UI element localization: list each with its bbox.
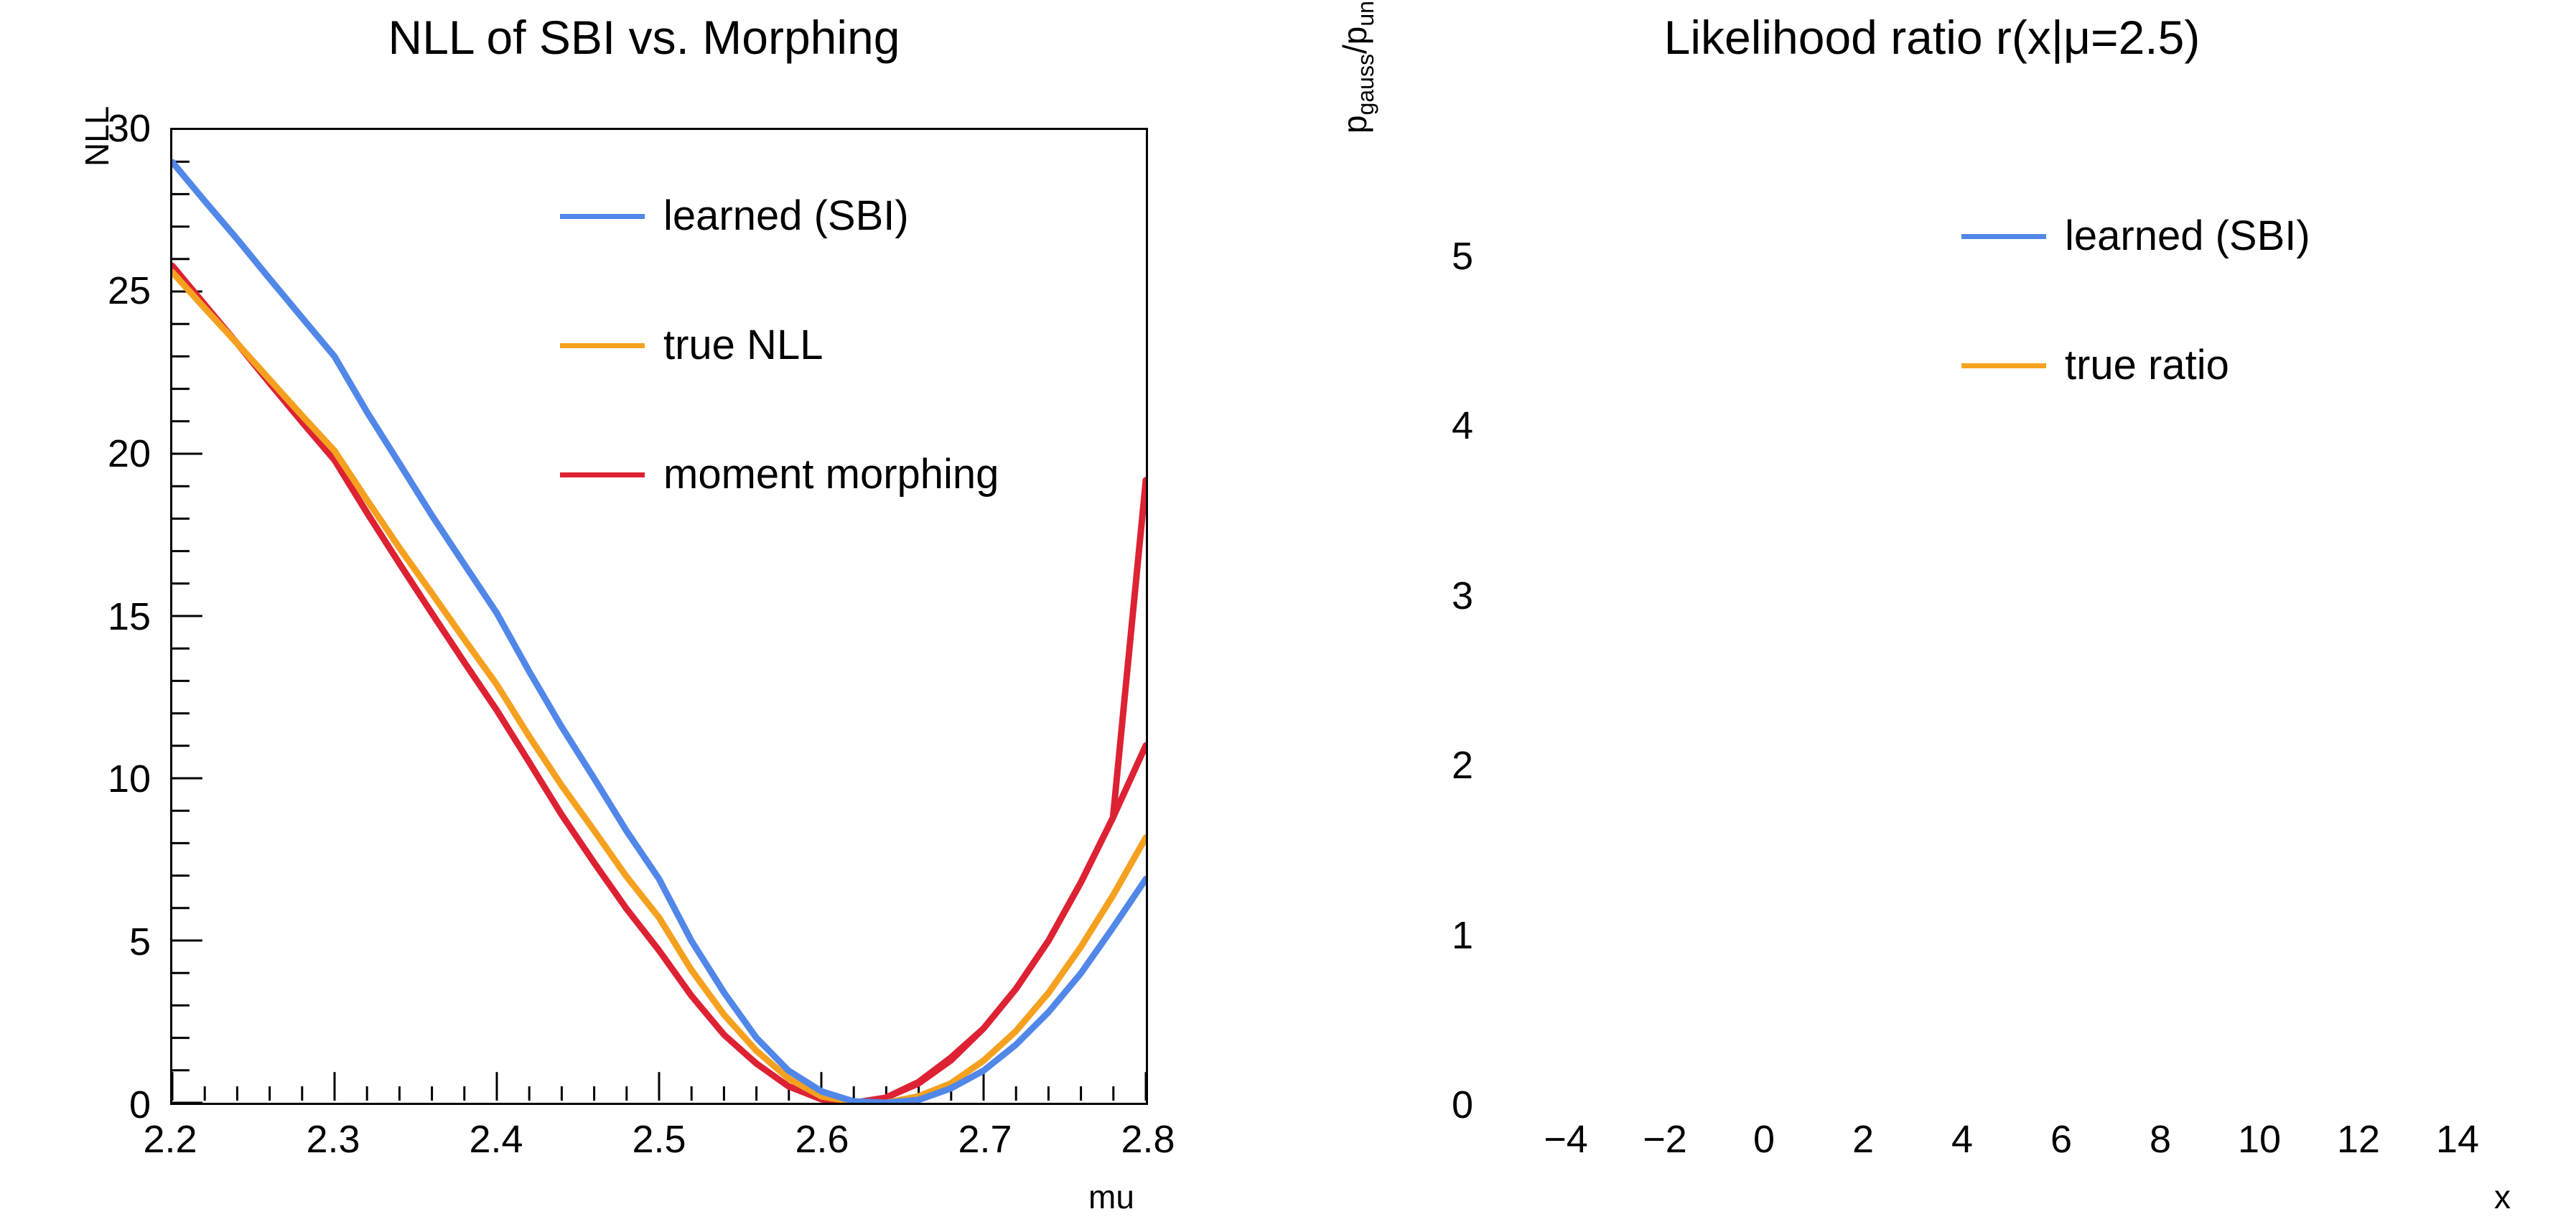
- nll-ytick-5: 5: [43, 920, 151, 964]
- nll-legend-label-moment-morphing: moment morphing: [663, 454, 999, 495]
- legend-line-icon-moment-morphing: [560, 472, 645, 477]
- ratio-y-title-p1: p: [1336, 115, 1373, 134]
- ratio-xtick-0: 0: [1753, 1117, 1775, 1162]
- legend-line-icon-learned-sbi-ratio: [1961, 234, 2046, 239]
- nll-ytick-30: 30: [43, 106, 151, 151]
- ratio-legend-item-learned-sbi[interactable]: learned (SBI): [1961, 194, 2310, 279]
- nll-xtick-2.4: 2.4: [469, 1117, 523, 1162]
- ratio-ytick-3: 3: [1331, 574, 1473, 618]
- ratio-ytick-2: 2: [1331, 743, 1473, 788]
- nll-xtick-2.5: 2.5: [632, 1117, 686, 1162]
- ratio-xtick-2: 2: [1852, 1117, 1874, 1162]
- ratio-legend: learned (SBI) true ratio: [1961, 194, 2310, 408]
- nll-legend-label-true-nll: true NLL: [663, 325, 823, 366]
- ratio-ytick-4: 4: [1331, 403, 1473, 448]
- ratio-legend-item-true-ratio[interactable]: true ratio: [1961, 323, 2310, 408]
- nll-xtick-2.3: 2.3: [306, 1117, 360, 1162]
- ratio-y-title-slash: /p: [1336, 27, 1373, 54]
- ratio-xtick-8: 8: [2150, 1117, 2171, 1162]
- ratio-xtick-14: 14: [2436, 1117, 2479, 1162]
- ratio-legend-label-true-ratio: true ratio: [2065, 345, 2229, 386]
- ratio-legend-label-learned-sbi: learned (SBI): [2065, 215, 2310, 257]
- nll-xtick-2.8: 2.8: [1121, 1117, 1175, 1162]
- nll-ytick-10: 10: [43, 757, 151, 801]
- ratio-panel-title: Likelihood ratio r(x|μ=2.5): [1288, 10, 2576, 65]
- nll-legend-item-learned-sbi[interactable]: learned (SBI): [560, 174, 999, 258]
- ratio-ytick-1: 1: [1331, 913, 1473, 958]
- nll-panel-title: NLL of SBI vs. Morphing: [0, 10, 1288, 65]
- ratio-xtick-m2: −2: [1643, 1117, 1687, 1162]
- ratio-panel: Likelihood ratio r(x|μ=2.5) pgauss/punif…: [1288, 0, 2576, 1232]
- nll-legend-label-learned-sbi: learned (SBI): [663, 195, 909, 237]
- ratio-ytick-0: 0: [1331, 1083, 1473, 1127]
- nll-legend: learned (SBI) true NLL moment morphing: [560, 174, 999, 517]
- ratio-xtick-10: 10: [2238, 1117, 2281, 1162]
- ratio-y-title-sub-gauss: gauss: [1353, 54, 1378, 115]
- ratio-y-axis-title: pgauss/puniform: [1335, 0, 1379, 134]
- ratio-ytick-5: 5: [1331, 234, 1473, 279]
- ratio-xtick-m4: −4: [1544, 1117, 1588, 1162]
- nll-legend-item-true-nll[interactable]: true NLL: [560, 303, 999, 388]
- figure-canvas: NLL of SBI vs. Morphing NLL 0 5 10 15 20…: [0, 0, 2576, 1232]
- nll-xtick-2.6: 2.6: [795, 1117, 849, 1162]
- nll-ytick-0: 0: [43, 1083, 151, 1127]
- ratio-x-axis-title: x: [2494, 1177, 2511, 1216]
- nll-ytick-20: 20: [43, 431, 151, 476]
- nll-ytick-15: 15: [43, 594, 151, 639]
- nll-x-ticks: [172, 1072, 1146, 1101]
- nll-ytick-25: 25: [43, 269, 151, 313]
- legend-line-icon-true-ratio: [1961, 363, 2046, 368]
- nll-legend-item-moment-morphing[interactable]: moment morphing: [560, 432, 999, 517]
- ratio-xtick-12: 12: [2337, 1117, 2380, 1162]
- ratio-y-title-sub-uniform: uniform: [1353, 0, 1378, 27]
- nll-xtick-2.2: 2.2: [143, 1117, 197, 1162]
- nll-xtick-2.7: 2.7: [958, 1117, 1012, 1162]
- legend-line-icon-true-nll: [560, 343, 645, 348]
- legend-line-icon-learned-sbi: [560, 214, 645, 219]
- ratio-xtick-4: 4: [1951, 1117, 1973, 1162]
- ratio-xtick-6: 6: [2050, 1117, 2072, 1162]
- nll-x-axis-title: mu: [1088, 1177, 1134, 1216]
- nll-panel: NLL of SBI vs. Morphing NLL 0 5 10 15 20…: [0, 0, 1288, 1232]
